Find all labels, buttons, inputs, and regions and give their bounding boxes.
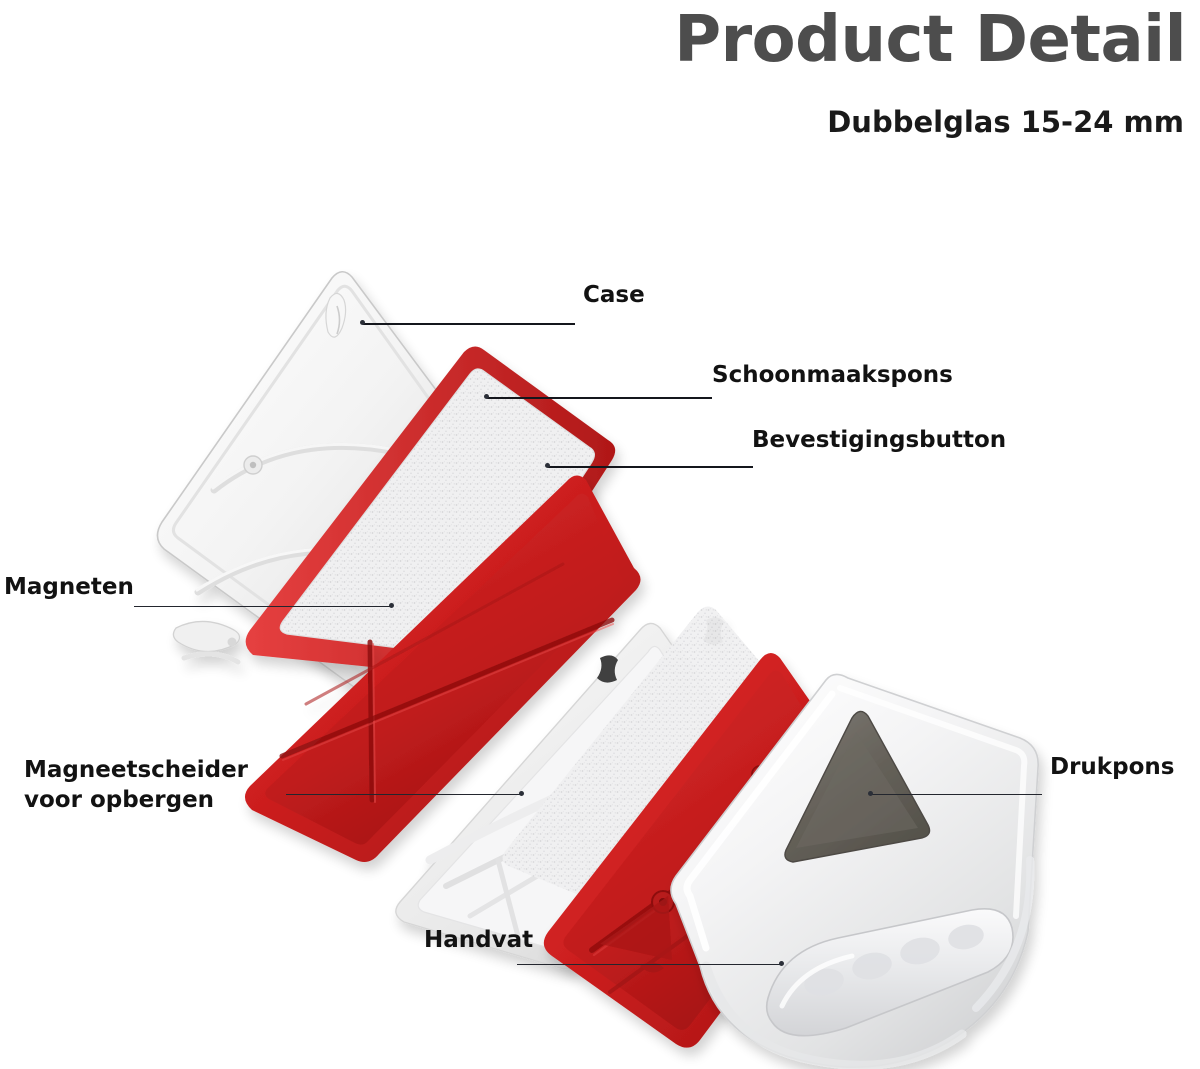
callout-label-handvat: Handvat [424, 925, 533, 955]
leader-dot-magneetscheider [519, 791, 524, 796]
leader-line-schoonmaakspons [487, 397, 712, 399]
page-subtitle: Dubbelglas 15-24 mm [827, 105, 1184, 139]
product-detail-infographic: Product Detail Dubbelglas 15-24 mm [0, 0, 1200, 1069]
header: Product Detail Dubbelglas 15-24 mm [0, 0, 1200, 160]
leader-line-drukpons [872, 794, 1042, 795]
page-title: Product Detail [674, 8, 1186, 72]
leader-dot-schoonmaakspons [484, 394, 489, 399]
callout-label-bevestigingsbutton: Bevestigingsbutton [752, 425, 1006, 455]
callout-label-case: Case [583, 280, 645, 310]
leader-line-magneten [134, 606, 392, 607]
leader-dot-magneten [389, 603, 394, 608]
leader-dot-bevestigingsbutton [545, 463, 550, 468]
leader-line-case [363, 323, 575, 325]
callout-label-schoonmaakspons: Schoonmaakspons [712, 360, 953, 390]
leader-dot-case [360, 320, 365, 325]
leader-line-magneetscheider [286, 794, 522, 795]
leader-dot-handvat [779, 961, 784, 966]
callout-label-magneetscheider: Magneetscheider voor opbergen [24, 755, 304, 816]
leader-line-bevestigingsbutton [548, 466, 753, 468]
callout-label-magneetscheider-line2: voor opbergen [24, 785, 304, 815]
callout-label-magneten: Magneten [4, 572, 134, 602]
callout-label-magneetscheider-line1: Magneetscheider [24, 755, 304, 785]
leader-line-handvat [517, 964, 782, 965]
callout-label-drukpons: Drukpons [1050, 752, 1174, 782]
leader-dot-drukpons [868, 791, 873, 796]
